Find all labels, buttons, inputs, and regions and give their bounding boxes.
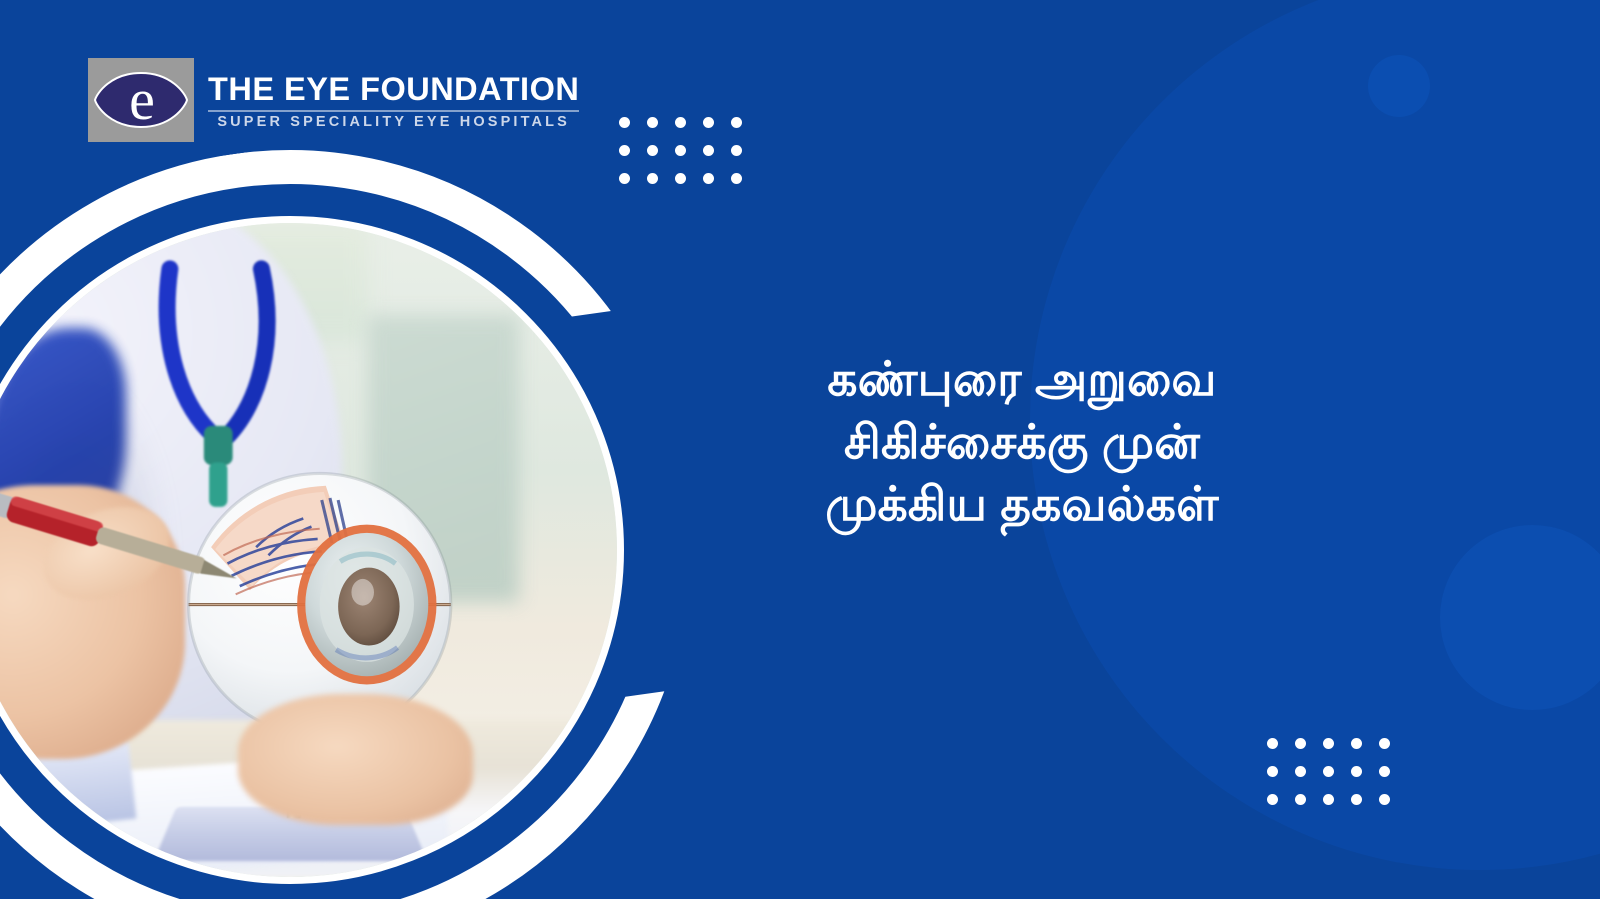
eye-logo-icon: e <box>88 58 194 142</box>
decor-dot <box>675 145 686 156</box>
dot-grid-bottom <box>1267 738 1390 805</box>
decor-dot <box>1379 794 1390 805</box>
headline-line-3: முக்கிய தகவல்கள் <box>692 473 1352 536</box>
decor-dot <box>675 173 686 184</box>
decor-circle-small-top <box>1368 55 1430 117</box>
decor-dot <box>731 145 742 156</box>
decor-dot <box>619 145 630 156</box>
dot-grid-top <box>619 117 742 184</box>
decor-dot <box>1267 766 1278 777</box>
hero-photo-disc <box>0 216 624 884</box>
decor-dot <box>1267 738 1278 749</box>
photo-doctor-hand-secondary <box>238 694 473 825</box>
decor-dot <box>731 173 742 184</box>
svg-text:e: e <box>129 69 155 131</box>
decor-dot <box>647 117 658 128</box>
headline: கண்புரை அறுவை சிகிச்சைக்கு முன் முக்கிய … <box>692 348 1352 536</box>
decor-dot <box>1295 738 1306 749</box>
hero-photo <box>0 223 617 877</box>
brand-logo[interactable]: e THE EYE FOUNDATION SUPER SPECIALITY EY… <box>88 58 579 142</box>
decor-circle-mid-right <box>1440 525 1600 710</box>
logo-wordmark: THE EYE FOUNDATION SUPER SPECIALITY EYE … <box>208 69 579 131</box>
decor-dot <box>1379 738 1390 749</box>
decor-dot <box>1267 794 1278 805</box>
decor-dot <box>647 173 658 184</box>
decor-dot <box>647 145 658 156</box>
decor-dot <box>1351 794 1362 805</box>
decor-dot <box>1379 766 1390 777</box>
decor-dot <box>703 145 714 156</box>
headline-line-1: கண்புரை அறுவை <box>692 348 1352 411</box>
decor-dot <box>703 173 714 184</box>
decor-dot <box>703 117 714 128</box>
decor-dot <box>1323 794 1334 805</box>
decor-dot <box>1351 766 1362 777</box>
logo-title: THE EYE FOUNDATION <box>208 73 579 107</box>
decor-dot <box>1295 794 1306 805</box>
decor-dot <box>675 117 686 128</box>
headline-line-2: சிகிச்சைக்கு முன் <box>692 411 1352 474</box>
decor-dot <box>1295 766 1306 777</box>
decor-dot <box>731 117 742 128</box>
decor-dot <box>1351 738 1362 749</box>
decor-dot <box>619 117 630 128</box>
hero-photo-composition <box>0 150 690 899</box>
logo-divider <box>208 110 579 112</box>
logo-subtitle: SUPER SPECIALITY EYE HOSPITALS <box>208 115 579 131</box>
decor-dot <box>1323 738 1334 749</box>
decor-dot <box>619 173 630 184</box>
decor-dot <box>1323 766 1334 777</box>
eye-foundation-banner: e THE EYE FOUNDATION SUPER SPECIALITY EY… <box>0 0 1600 899</box>
